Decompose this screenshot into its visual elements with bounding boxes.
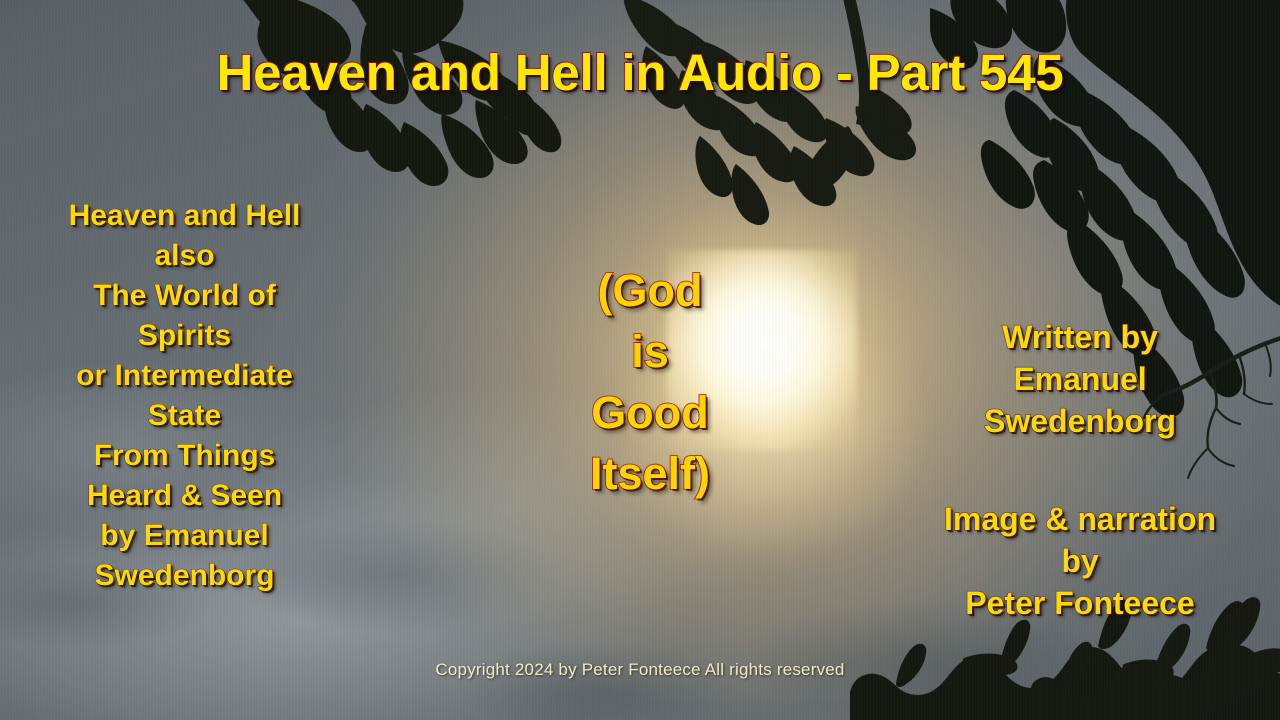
video-title-card: Heaven and Hell in Audio - Part 545 Heav… bbox=[0, 0, 1280, 720]
author-credit-block: Written by Emanuel Swedenborg bbox=[930, 316, 1230, 442]
page-title: Heaven and Hell in Audio - Part 545 bbox=[0, 47, 1280, 98]
work-title-block: Heaven and Hell also The World of Spirit… bbox=[22, 196, 347, 596]
copyright-notice: Copyright 2024 by Peter Fonteece All rig… bbox=[0, 659, 1280, 681]
episode-subtitle-block: (God is Good Itself) bbox=[500, 260, 800, 504]
narration-credit-block: Image & narration by Peter Fonteece bbox=[920, 498, 1240, 624]
